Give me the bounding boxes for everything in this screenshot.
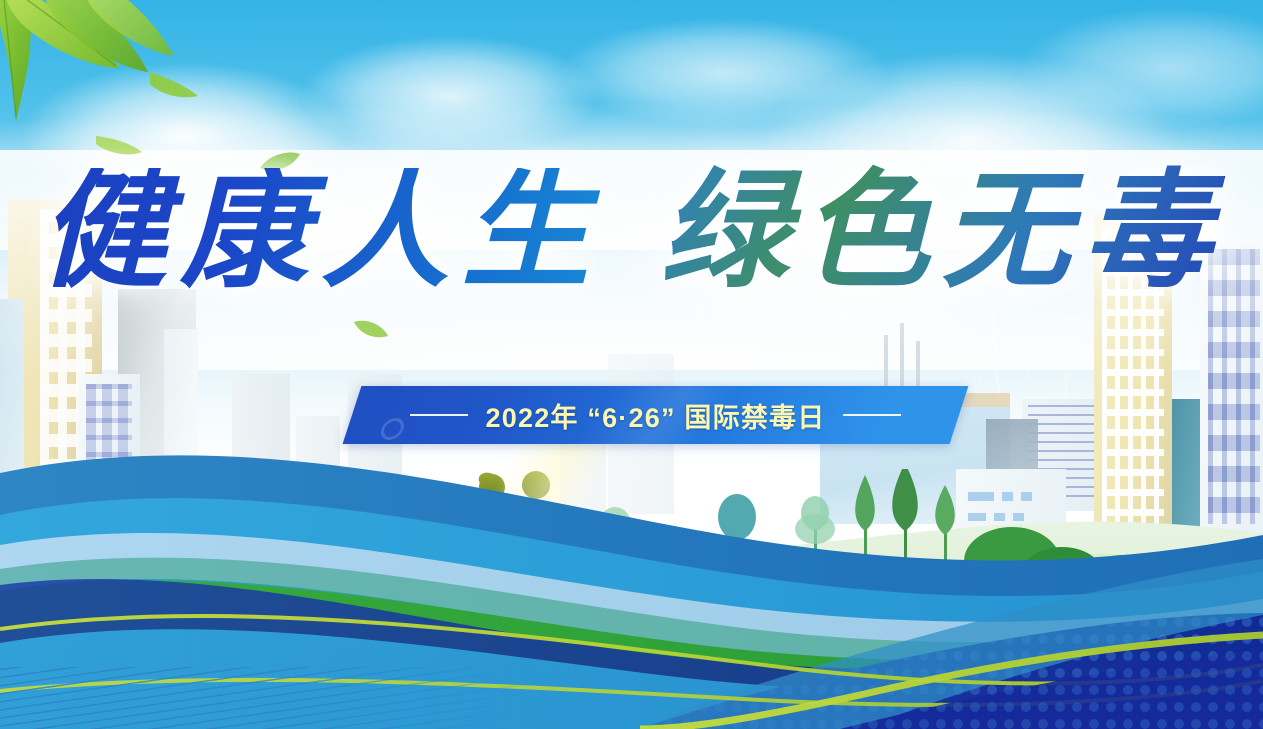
banner-right-rule [843,414,901,416]
diagonal-line-strip [0,667,560,729]
leaf-floating [150,72,198,97]
poster-canvas: 健康人生绿色无毒 2022年 “6·26” 国际禁毒日 [0,0,1263,729]
building-antenna [884,335,888,393]
floating-leaf-lower [352,316,390,342]
leaf-cluster-icon [0,0,390,186]
title-phrase-one: 健康人生 [39,161,602,303]
title-phrase-two: 绿色无毒 [661,161,1224,303]
subtitle-banner-content: 2022年 “6·26” 国际禁毒日 [352,386,959,444]
leaf-floating [96,136,142,154]
banner-left-rule [410,414,468,416]
banner-label: 2022年 “6·26” 国际禁毒日 [486,396,826,435]
page-title: 健康人生绿色无毒 [0,168,1263,296]
building-antenna [900,323,904,393]
